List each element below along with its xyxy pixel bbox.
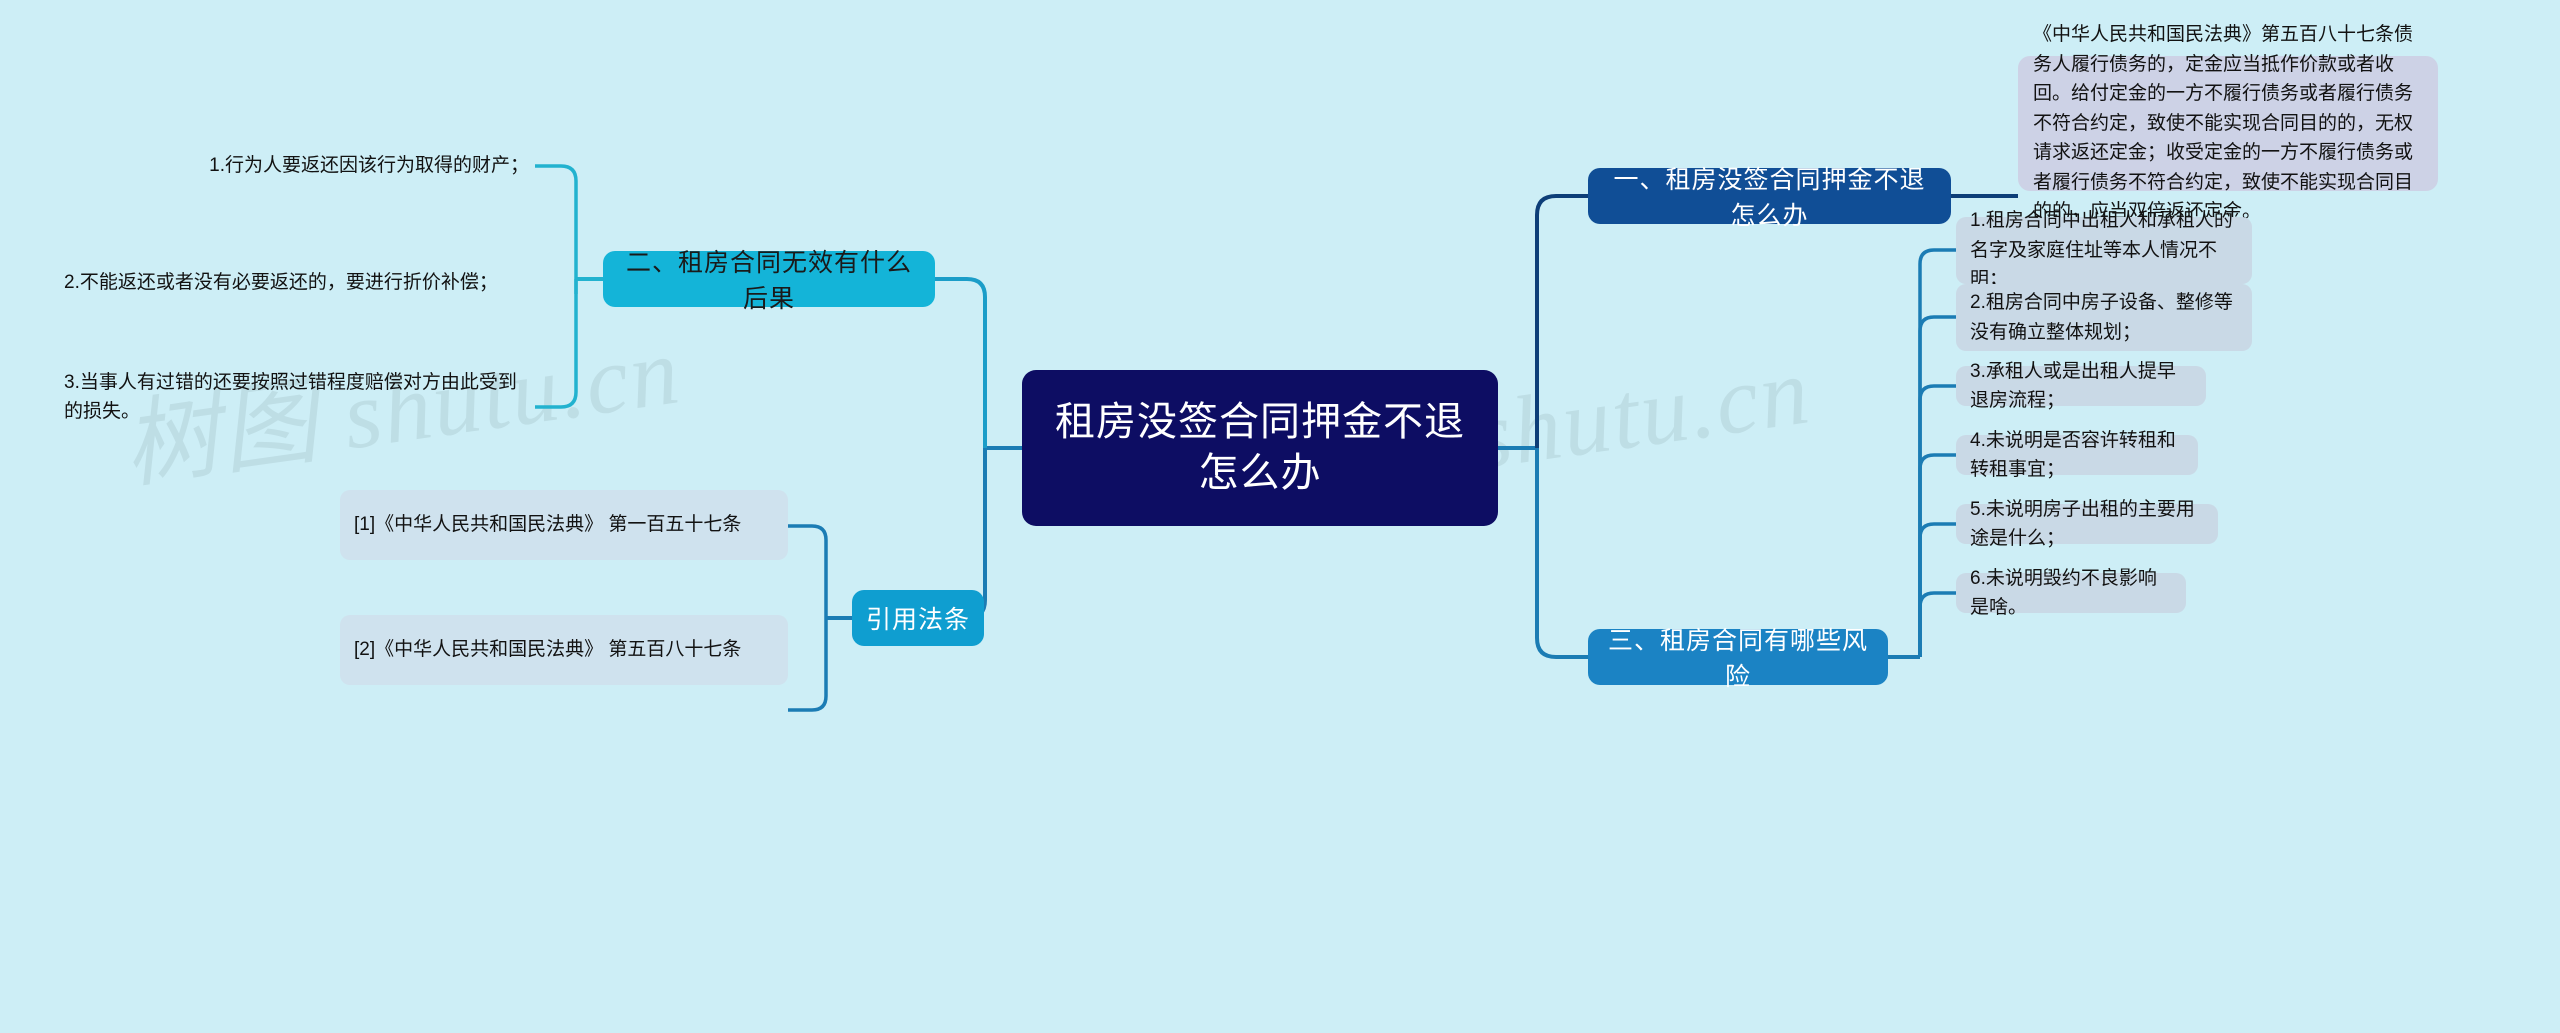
branch-node-topic-two[interactable]: 二、租房合同无效有什么后果 [603,251,935,307]
leaf-risk-6: 6.未说明毁约不良影响是啥。 [1956,573,2186,613]
leaf-consequence-3: 3.当事人有过错的还要按照过错程度赔偿对方由此受到的损失。 [58,362,536,432]
leaf-consequence-2: 2.不能返还或者没有必要返还的，要进行折价补偿； [58,248,536,318]
leaf-text: 2.不能返还或者没有必要返还的，要进行折价补偿； [64,268,498,297]
leaf-text: 5.未说明房子出租的主要用途是什么； [1970,495,2204,554]
leaf-text: 3.承租人或是出租人提早退房流程； [1970,357,2192,416]
leaf-risk-3: 3.承租人或是出租人提早退房流程； [1956,366,2206,406]
leaf-risk-5: 5.未说明房子出租的主要用途是什么； [1956,504,2218,544]
leaf-risk-1: 1.租房合同中出租人和承租人的名字及家庭住址等本人情况不明； [1956,217,2252,284]
branch-node-citations[interactable]: 引用法条 [852,590,984,646]
leaf-citation-2: [2]《中华人民共和国民法典》 第五百八十七条 [340,615,788,685]
mindmap-canvas: 树图 shutu.cn 树图 shutu.cn [0,0,2560,1033]
leaf-text: 1.租房合同中出租人和承租人的名字及家庭住址等本人情况不明； [1970,206,2238,294]
branch-node-topic-one[interactable]: 一、租房没签合同押金不退怎么办 [1588,168,1951,224]
leaf-text: 2.租房合同中房子设备、整修等没有确立整体规划； [1970,288,2238,347]
root-node[interactable]: 租房没签合同押金不退怎么办 [1022,370,1498,526]
leaf-risk-2: 2.租房合同中房子设备、整修等没有确立整体规划； [1956,284,2252,351]
branch-node-topic-three[interactable]: 三、租房合同有哪些风险 [1588,629,1888,685]
leaf-text: [1]《中华人民共和国民法典》 第一百五十七条 [354,510,741,539]
leaf-text: 1.行为人要返还因该行为取得的财产； [209,151,529,180]
leaf-text: 3.当事人有过错的还要按照过错程度赔偿对方由此受到的损失。 [64,368,530,427]
leaf-consequence-1: 1.行为人要返还因该行为取得的财产； [100,145,535,187]
leaf-text: 6.未说明毁约不良影响是啥。 [1970,564,2172,623]
leaf-text: [2]《中华人民共和国民法典》 第五百八十七条 [354,635,741,664]
leaf-text: 4.未说明是否容许转租和转租事宜； [1970,426,2184,485]
leaf-risk-4: 4.未说明是否容许转租和转租事宜； [1956,435,2198,475]
leaf-topic-one-law-text: 《中华人民共和国民法典》第五百八十七条债务人履行债务的，定金应当抵作价款或者收回… [2018,56,2438,191]
leaf-citation-1: [1]《中华人民共和国民法典》 第一百五十七条 [340,490,788,560]
leaf-text: 《中华人民共和国民法典》第五百八十七条债务人履行债务的，定金应当抵作价款或者收回… [2033,20,2423,226]
